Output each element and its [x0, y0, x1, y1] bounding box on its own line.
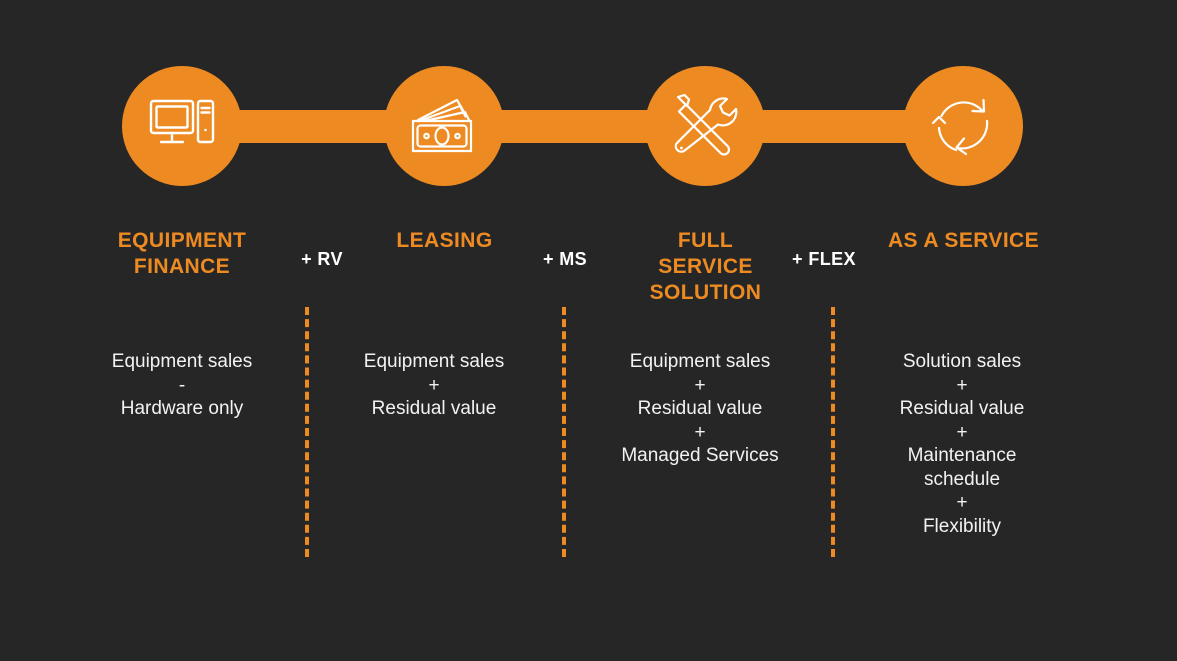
column-text-line: Solution sales	[862, 350, 1062, 374]
column-divider-2	[562, 307, 566, 557]
banknotes-cash-icon	[410, 97, 478, 155]
operator-label-ms: + MS	[520, 248, 610, 270]
chain-node-as-a-service[interactable]	[903, 66, 1023, 186]
stage-label-leasing: LEASING	[372, 228, 517, 254]
chain-node-full-service-solution[interactable]	[645, 66, 765, 186]
column-operator: +	[862, 491, 1062, 515]
desktop-computer-icon	[149, 99, 215, 153]
stage-label-line: FULL	[678, 229, 733, 252]
operator-label-rv: + RV	[272, 248, 372, 270]
column-text-line: Hardware only	[82, 397, 282, 421]
chain-node-leasing[interactable]	[384, 66, 504, 186]
column-divider-3	[831, 307, 835, 557]
chain-node-equipment-finance[interactable]	[122, 66, 242, 186]
column-body-equipment-finance: Equipment sales-Hardware only	[82, 350, 282, 421]
tools-wrench-screwdriver-icon	[672, 93, 738, 159]
column-text-line: Residual value	[594, 397, 806, 421]
column-text-line: Residual value	[336, 397, 532, 421]
stage-label-line: FINANCE	[134, 255, 230, 278]
infographic-canvas: EQUIPMENT FINANCE + RV LEASING + MS FULL…	[0, 0, 1177, 661]
column-body-full-service-solution: Equipment sales+Residual value+Managed S…	[594, 350, 806, 468]
column-operator: -	[82, 374, 282, 398]
chain-connector-bar	[182, 110, 963, 143]
column-operator: +	[594, 421, 806, 445]
stage-label-line: EQUIPMENT	[118, 229, 246, 252]
column-body-leasing: Equipment sales+Residual value	[336, 350, 532, 421]
column-text-line: Equipment sales	[336, 350, 532, 374]
stage-label-equipment-finance: EQUIPMENT FINANCE	[92, 228, 272, 280]
column-body-as-a-service: Solution sales+Residual value+Maintenanc…	[862, 350, 1062, 538]
stage-label-full-service-solution: FULL SERVICE SOLUTION	[628, 228, 783, 306]
column-text-line: Flexibility	[862, 515, 1062, 539]
column-text-line: schedule	[862, 468, 1062, 492]
circular-arrows-refresh-icon	[931, 94, 995, 158]
column-text-line: Residual value	[862, 397, 1062, 421]
operator-label-flex: + FLEX	[774, 248, 874, 270]
stage-label-row: EQUIPMENT FINANCE + RV LEASING + MS FULL…	[0, 228, 1177, 318]
column-operator: +	[594, 374, 806, 398]
column-operator: +	[336, 374, 532, 398]
process-chain	[0, 0, 1177, 200]
column-text-line: Equipment sales	[82, 350, 282, 374]
column-operator: +	[862, 374, 1062, 398]
column-text-line: Equipment sales	[594, 350, 806, 374]
stage-label-line: SERVICE	[658, 255, 753, 278]
stage-label-line: SOLUTION	[650, 281, 762, 304]
column-divider-1	[305, 307, 309, 557]
column-text-line: Maintenance	[862, 444, 1062, 468]
column-text-line: Managed Services	[594, 444, 806, 468]
stage-label-as-a-service: AS A SERVICE	[876, 228, 1051, 254]
column-operator: +	[862, 421, 1062, 445]
